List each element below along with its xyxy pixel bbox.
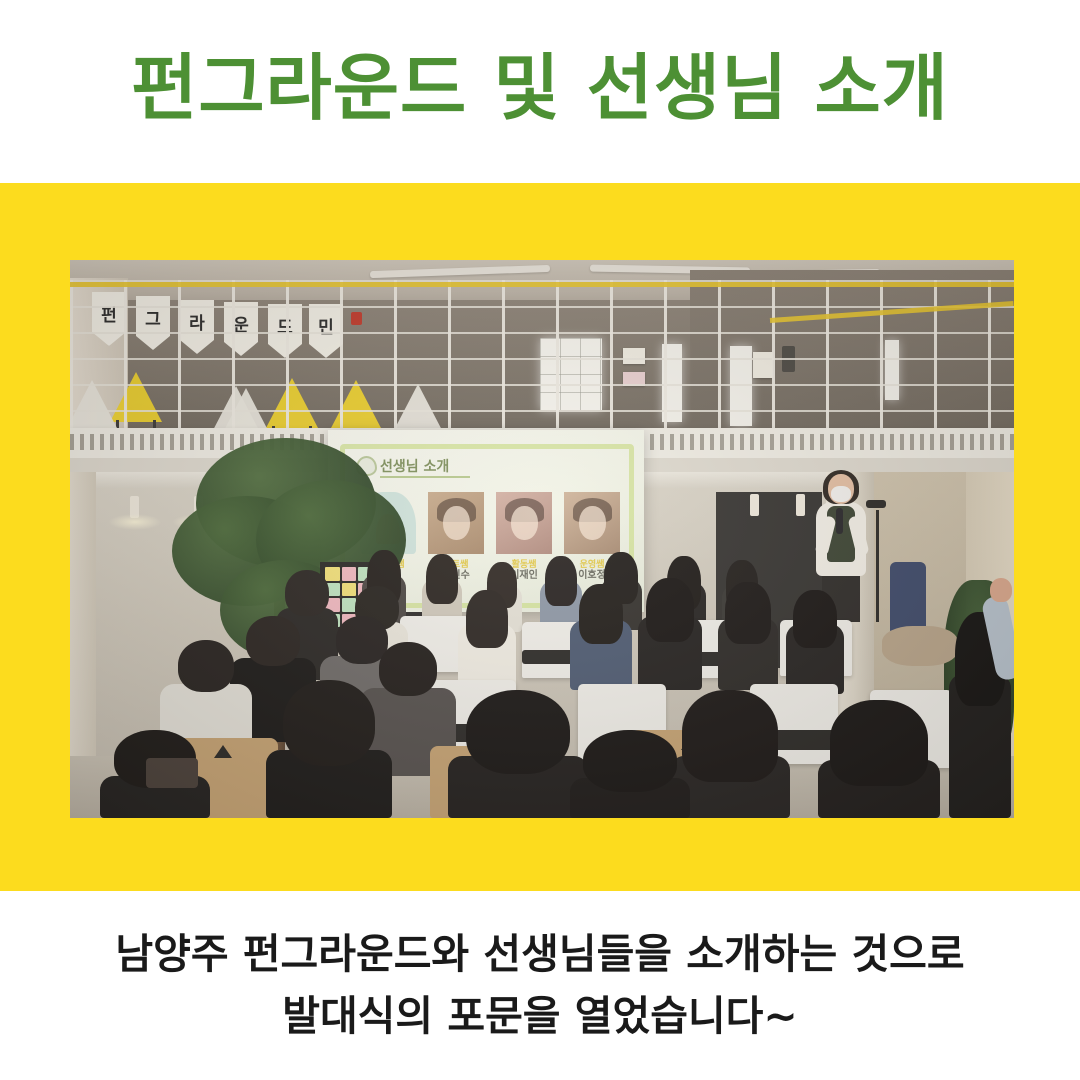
- person-hair: [830, 700, 928, 786]
- person-head: [583, 730, 677, 792]
- audience-person: [266, 680, 392, 818]
- social-card: 펀그라운드 및 선생님 소개: [0, 0, 1080, 1080]
- audience-person: [570, 584, 632, 690]
- event-photo: 펀 그 라 운 드 민: [70, 260, 1014, 818]
- person-hair: [793, 590, 837, 648]
- person-head: [285, 570, 329, 616]
- audience-person: [786, 590, 844, 694]
- person-hair: [426, 554, 458, 604]
- audience-person: [570, 730, 690, 818]
- person-head: [178, 640, 234, 692]
- person-hair: [682, 690, 778, 782]
- audience-person: [638, 578, 702, 690]
- title-zone: 펀그라운드 및 선생님 소개: [0, 0, 1080, 183]
- person-head: [466, 690, 570, 774]
- person-head: [246, 616, 300, 666]
- caption-line-2: 발대식의 포문을 열었습니다~: [282, 993, 798, 1040]
- person-hair: [579, 584, 623, 644]
- audience-person: [458, 590, 516, 690]
- page-title: 펀그라운드 및 선생님 소개: [131, 52, 949, 124]
- person-hair: [466, 590, 508, 648]
- audience-person: [448, 690, 588, 818]
- photo-scene: 펀 그 라 운 드 민: [70, 260, 1014, 818]
- hand-shape: [990, 578, 1012, 602]
- caption-block: 남양주 펀그라운드와 선생님들을 소개하는 것으로 발대식의 포문을 열었습니다…: [0, 891, 1080, 1080]
- held-phone: [146, 758, 198, 788]
- audience-person: [718, 582, 778, 690]
- person-head: [283, 680, 375, 766]
- caption-line-1: 남양주 펀그라운드와 선생님들을 소개하는 것으로: [115, 931, 964, 978]
- audience-person: [818, 700, 940, 818]
- hand: [990, 578, 1012, 602]
- audience: [70, 260, 1014, 818]
- person-hair: [725, 582, 771, 644]
- person-hair: [646, 578, 694, 642]
